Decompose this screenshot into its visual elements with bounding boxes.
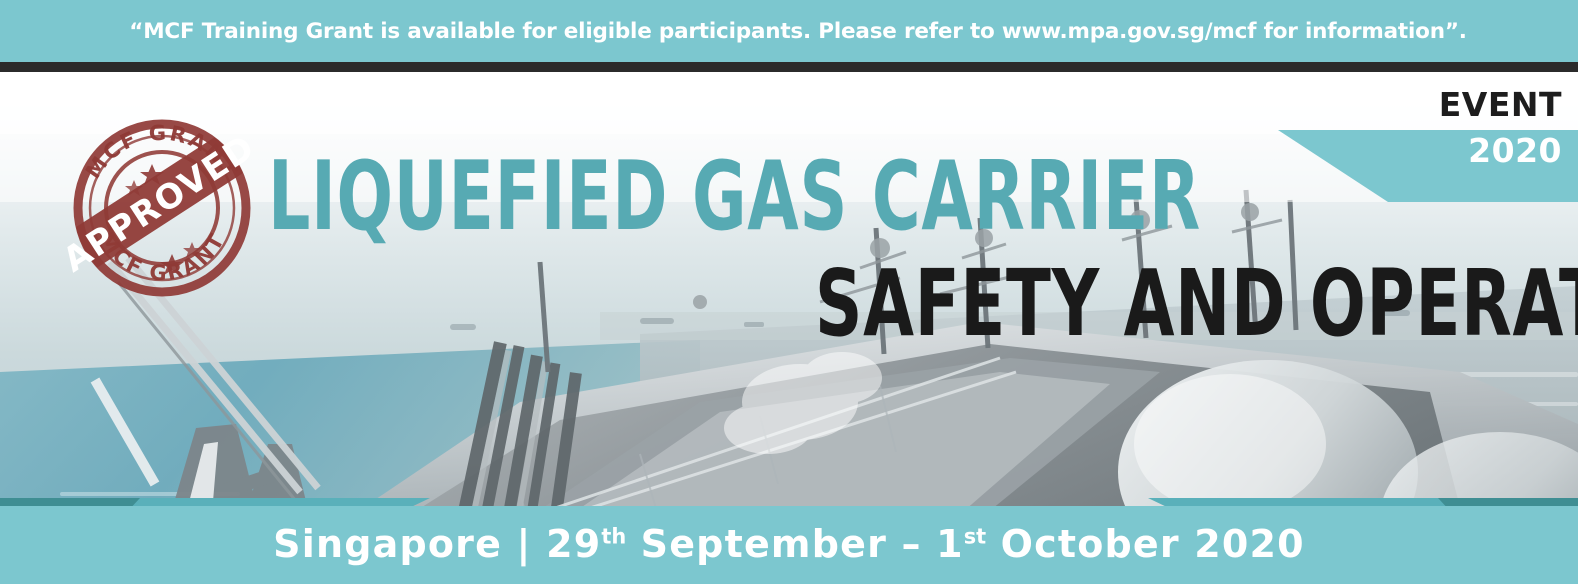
stamp-graphic: MCF GRANT MCF GRANT APPROVED (60, 108, 265, 303)
footer-end-day: 1 (936, 522, 964, 566)
footer-range-dash: – (901, 522, 921, 566)
footer-date-text: Singapore | 29th September – 1st October… (273, 525, 1305, 565)
footer-separator: | (517, 522, 532, 566)
footer-start-month: September (641, 522, 887, 566)
mcf-grant-approved-stamp: MCF GRANT MCF GRANT APPROVED (60, 108, 265, 303)
header-divider-rule (0, 62, 1578, 72)
footer-year: 2020 (1194, 522, 1305, 566)
footer-end-day-suffix: st (964, 524, 986, 548)
footer-date-bar: Singapore | 29th September – 1st October… (0, 506, 1578, 584)
footer-start-day: 29 (546, 522, 601, 566)
page-title-secondary: SAFETY AND OPERATIONS (815, 258, 1578, 350)
footer-end-month: October (1001, 522, 1180, 566)
footer-start-day-suffix: th (601, 524, 626, 548)
page-title-primary: LIQUEFIED GAS CARRIER (268, 150, 1201, 245)
event-banner: “MCF Training Grant is available for eli… (0, 0, 1578, 584)
grant-notice-bar: “MCF Training Grant is available for eli… (0, 0, 1578, 62)
footer-location: Singapore (273, 522, 502, 566)
grant-notice-text: “MCF Training Grant is available for eli… (111, 19, 1466, 44)
